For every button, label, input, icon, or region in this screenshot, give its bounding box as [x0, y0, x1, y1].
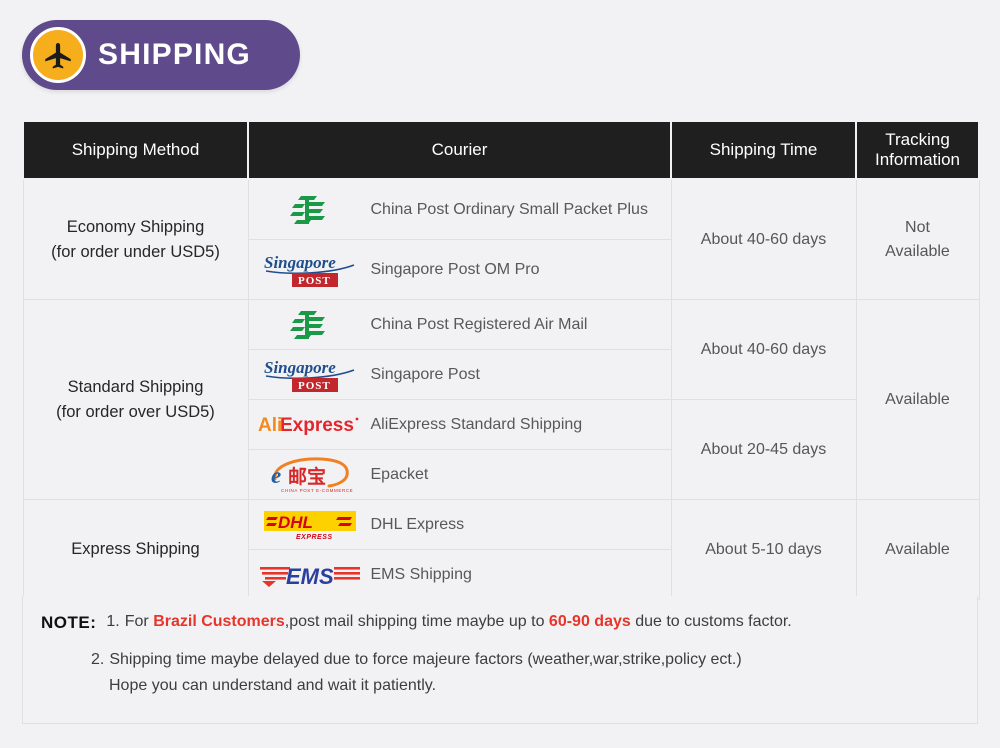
shipping-time-economy: About 40-60 days — [671, 179, 856, 300]
svg-text:POST: POST — [298, 275, 331, 287]
courier-row-aliexpress-standard: Ali Express AliExpress Standard Shipping — [249, 400, 671, 450]
method-economy-shipping: Economy Shipping (for order under USD5) — [23, 179, 248, 300]
note-item-2: 2. Shipping time maybe delayed due to fo… — [91, 648, 959, 673]
shipping-time-standard-a: About 40-60 days — [671, 300, 856, 400]
svg-text:Express: Express — [280, 415, 354, 436]
svg-text:EXPRESS: EXPRESS — [296, 534, 333, 541]
epacket-logo: e 邮宝 CHINA POST E-COMMERCE — [249, 455, 371, 495]
courier-name: EMS Shipping — [371, 564, 480, 586]
note-1-mid: ,post mail shipping time maybe up to — [285, 613, 549, 630]
header-tracking-line2: Information — [875, 150, 960, 169]
banner-bar: SHIPPING — [22, 20, 300, 90]
method-line1: Economy Shipping — [24, 215, 248, 240]
note-2-number: 2. — [91, 648, 104, 673]
tracking-standard: Available — [856, 300, 979, 500]
courier-name: DHL Express — [371, 514, 473, 536]
china-post-logo — [249, 192, 371, 228]
method-line2: (for order under USD5) — [24, 240, 248, 265]
banner-title: SHIPPING — [98, 38, 251, 72]
method-line1: Express Shipping — [24, 537, 248, 562]
svg-text:EMS: EMS — [286, 564, 334, 589]
method-line1: Standard Shipping — [24, 375, 248, 400]
courier-name: AliExpress Standard Shipping — [371, 414, 591, 436]
note-1-post: due to customs factor. — [631, 613, 792, 630]
note-1-highlight-days: 60-90 days — [549, 613, 631, 630]
svg-text:CHINA POST E-COMMERCE: CHINA POST E-COMMERCE — [281, 488, 353, 493]
header-shipping-time: Shipping Time — [671, 121, 856, 179]
table-row: Economy Shipping (for order under USD5) — [23, 179, 979, 300]
courier-row-singapore-post: Singapore POST Singapore Post — [249, 350, 671, 399]
header-tracking-information: Tracking Information — [856, 121, 979, 179]
note-item-2-line2: Hope you can understand and wait it pati… — [109, 674, 959, 699]
courier-row-epacket: e 邮宝 CHINA POST E-COMMERCE Epacket — [249, 450, 671, 499]
method-standard-shipping: Standard Shipping (for order over USD5) — [23, 300, 248, 500]
table-row: Express Shipping DHL EXPRESS DHL Express — [23, 500, 979, 600]
note-item-1: NOTE: 1. For Brazil Customers,post mail … — [41, 610, 959, 636]
airplane-icon — [30, 27, 86, 83]
courier-row-china-post-small-packet: China Post Ordinary Small Packet Plus — [249, 180, 671, 240]
shipping-time-express: About 5-10 days — [671, 500, 856, 600]
china-post-logo — [249, 307, 371, 343]
svg-text:DHL: DHL — [278, 513, 313, 532]
header-courier: Courier — [248, 121, 671, 179]
shipping-time-standard-b: About 20-45 days — [671, 400, 856, 500]
svg-text:邮宝: 邮宝 — [288, 465, 326, 488]
svg-text:Ali: Ali — [258, 415, 282, 436]
note-1-pre: For — [125, 613, 153, 630]
note-2-line1: Shipping time maybe delayed due to force… — [109, 648, 741, 673]
header-shipping-method: Shipping Method — [23, 121, 248, 179]
singapore-post-logo: Singapore POST — [249, 251, 371, 289]
note-1-text: For Brazil Customers,post mail shipping … — [125, 610, 792, 636]
tracking-line2: Available — [857, 240, 979, 264]
note-2-line2: Hope you can understand and wait it pati… — [109, 674, 436, 699]
ems-logo: EMS — [249, 560, 371, 590]
tracking-express: Available — [856, 500, 979, 600]
courier-list-standard-b: Ali Express AliExpress Standard Shipping… — [248, 400, 671, 500]
tracking-economy: Not Available — [856, 179, 979, 300]
courier-name: Singapore Post — [371, 364, 488, 386]
courier-name: China Post Ordinary Small Packet Plus — [371, 199, 656, 221]
header-tracking-line1: Tracking — [885, 130, 950, 149]
courier-row-singapore-post-om-pro: Singapore POST Singapore Post OM Pro — [249, 240, 671, 299]
courier-row-china-post-registered: China Post Registered Air Mail — [249, 300, 671, 350]
svg-text:e: e — [271, 463, 281, 488]
method-line2: (for order over USD5) — [24, 400, 248, 425]
table-row: Standard Shipping (for order over USD5) — [23, 300, 979, 400]
courier-list-express: DHL EXPRESS DHL Express — [248, 500, 671, 600]
note-1-number: 1. — [106, 610, 119, 636]
shipping-banner: SHIPPING — [22, 20, 300, 90]
table-header-row: Shipping Method Courier Shipping Time Tr… — [23, 121, 979, 179]
dhl-logo: DHL EXPRESS — [249, 508, 371, 542]
aliexpress-logo: Ali Express — [249, 412, 371, 438]
svg-text:Singapore: Singapore — [264, 358, 336, 377]
courier-list-standard-a: China Post Registered Air Mail Singapore… — [248, 300, 671, 400]
method-express-shipping: Express Shipping — [23, 500, 248, 600]
note-section: NOTE: 1. For Brazil Customers,post mail … — [22, 596, 978, 724]
note-label: NOTE: — [41, 610, 96, 636]
courier-name: China Post Registered Air Mail — [371, 314, 596, 336]
courier-list-economy: China Post Ordinary Small Packet Plus Si… — [248, 179, 671, 300]
courier-name: Singapore Post OM Pro — [371, 259, 548, 281]
svg-text:Singapore: Singapore — [264, 253, 336, 272]
tracking-line1: Not — [857, 216, 979, 240]
note-1-highlight-brazil: Brazil Customers — [153, 613, 285, 630]
svg-text:POST: POST — [298, 380, 331, 392]
singapore-post-logo: Singapore POST — [249, 356, 371, 394]
courier-name: Epacket — [371, 464, 437, 486]
shipping-table: Shipping Method Courier Shipping Time Tr… — [22, 120, 980, 600]
courier-row-ems-shipping: EMS EMS Shipping — [249, 550, 671, 599]
courier-row-dhl-express: DHL EXPRESS DHL Express — [249, 500, 671, 550]
